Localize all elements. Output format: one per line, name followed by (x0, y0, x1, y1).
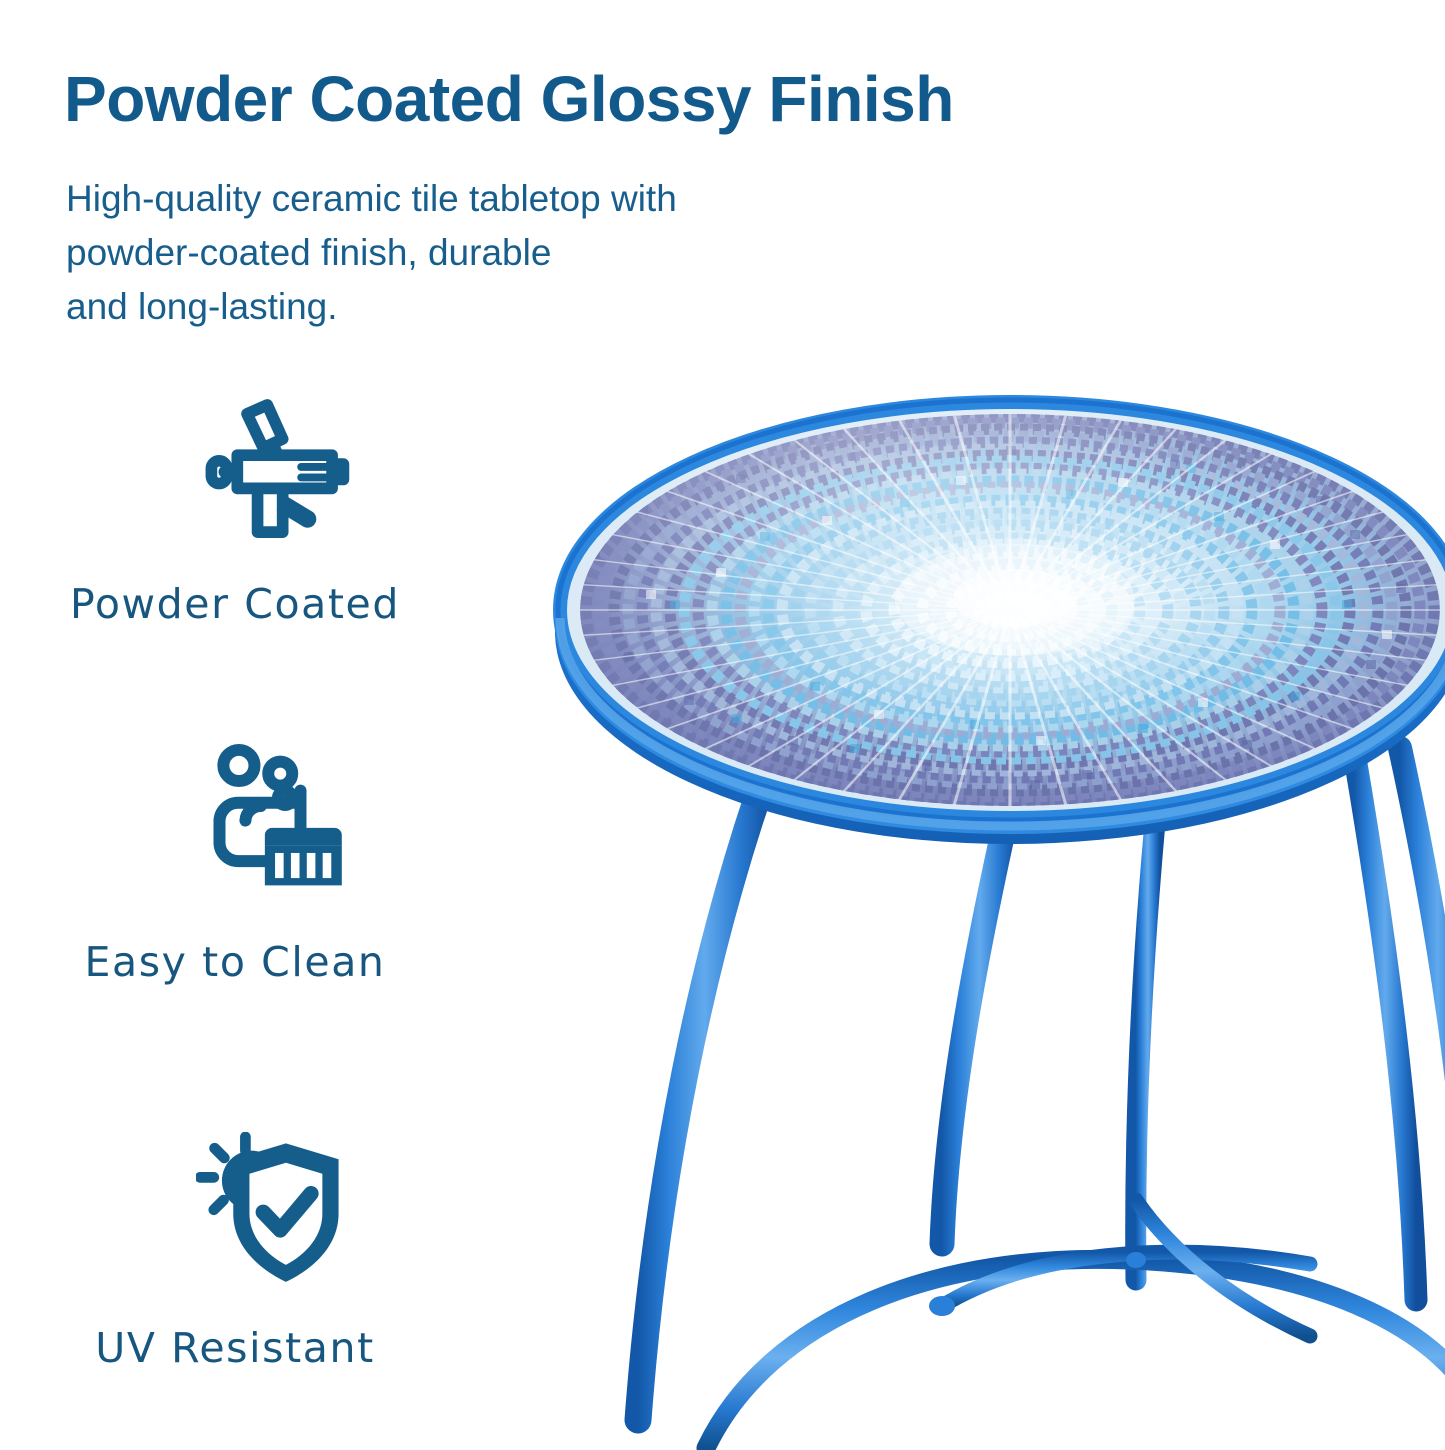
subtitle-line-1: High-quality ceramic tile tabletop with (66, 172, 866, 226)
table-illustration (470, 300, 1445, 1450)
subtitle-line-2: powder-coated finish, durable (66, 226, 866, 280)
spray-gun-icon (196, 392, 358, 554)
table-legs (638, 748, 1445, 1420)
table-stretcher (706, 1200, 1445, 1448)
cleaning-brush-icon (196, 742, 358, 904)
page-title: Powder Coated Glossy Finish (64, 66, 954, 133)
feature-label-powder-coated: Powder Coated (0, 580, 470, 628)
product-image-mosaic-table (470, 300, 1445, 1450)
table-top (555, 400, 1445, 844)
sun-shield-check-icon (196, 1132, 358, 1294)
feature-label-uv-resistant: UV Resistant (0, 1324, 470, 1372)
feature-label-easy-to-clean: Easy to Clean (0, 938, 470, 986)
